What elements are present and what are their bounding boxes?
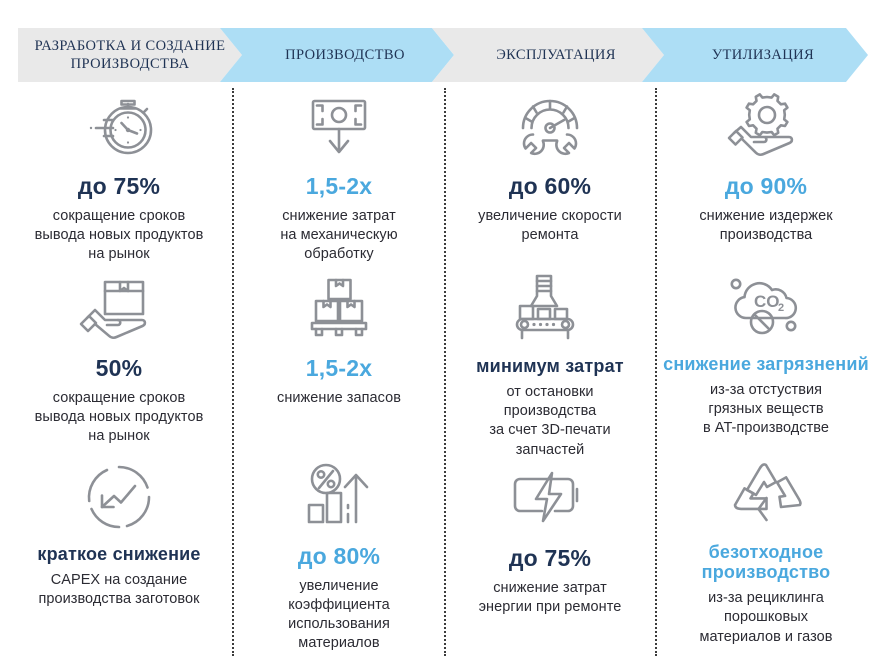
metric-value: до 60% xyxy=(449,174,651,200)
metric-description: увеличение коэффициента использования ма… xyxy=(238,577,440,654)
percent-growth-chart-icon xyxy=(238,458,440,536)
metric-card: CO 2 снижение загрязнений из-за отстуств… xyxy=(660,268,872,439)
metric-description: от остановки производства за счет 3D-печ… xyxy=(449,383,651,460)
metric-value: минимум затрат xyxy=(449,356,651,376)
metric-card: 1,5-2x снижение затрат на механическую о… xyxy=(238,88,440,264)
metric-description: CAPEX на создание производства заготовок xyxy=(10,571,228,609)
metric-value: до 90% xyxy=(660,174,872,200)
metric-description: из-за отстуствия грязных веществ в AT-пр… xyxy=(660,381,872,438)
metric-card: минимум затрат от остановки производства… xyxy=(449,270,651,460)
metric-value: краткое снижение xyxy=(10,544,228,564)
metric-card: 50% сокращение сроков вывода новых проду… xyxy=(10,270,228,446)
stage-chevron-3: ЭКСПЛУАТАЦИЯ xyxy=(432,28,664,82)
declining-chart-circle-icon xyxy=(10,458,228,536)
recycling-icon xyxy=(660,456,872,534)
stage-chevron-1: РАЗРАБОТКА И СОЗДАНИЕ ПРОИЗВОДСТВА xyxy=(18,28,242,82)
metric-value: до 80% xyxy=(238,544,440,570)
stage-label-2: ПРОИЗВОДСТВО xyxy=(285,46,405,64)
metric-value: 50% xyxy=(10,356,228,382)
metric-description: снижение запасов xyxy=(238,389,440,408)
metric-card: до 60% увеличение скорости ремонта xyxy=(449,88,651,245)
column-divider-3 xyxy=(655,88,657,656)
stage-label-3: ЭКСПЛУАТАЦИЯ xyxy=(496,46,616,64)
metric-description: снижение издержек производства xyxy=(660,207,872,245)
svg-text:2: 2 xyxy=(778,302,784,314)
metric-card: до 80% увеличение коэффициента использов… xyxy=(238,458,440,653)
banknote-down-arrow-icon xyxy=(238,88,440,166)
svg-text:CO: CO xyxy=(754,292,780,311)
battery-bolt-icon xyxy=(449,460,651,538)
metric-value: до 75% xyxy=(10,174,228,200)
stage-chevron-4: УТИЛИЗАЦИЯ xyxy=(642,28,868,82)
metric-value: до 75% xyxy=(449,546,651,572)
co2-cloud-blocked-icon: CO 2 xyxy=(660,268,872,346)
boxes-on-pallet-icon xyxy=(238,270,440,348)
metric-value: снижение загрязнений xyxy=(660,354,872,374)
column-divider-2 xyxy=(444,88,446,656)
stage-label-4: УТИЛИЗАЦИЯ xyxy=(712,46,814,64)
metric-description: сокращение сроков вывода новых продуктов… xyxy=(10,389,228,446)
stage-header-band: РАЗРАБОТКА И СОЗДАНИЕ ПРОИЗВОДСТВА ПРОИЗ… xyxy=(18,28,868,82)
metric-description: снижение затрат на механическую обработк… xyxy=(238,207,440,264)
speedometer-wrench-icon xyxy=(449,88,651,166)
metric-card: до 75% снижение затрат энергии при ремон… xyxy=(449,460,651,617)
metric-card: 1,5-2x снижение запасов xyxy=(238,270,440,408)
metric-card: до 90% снижение издержек производства xyxy=(660,88,872,245)
conveyor-belt-icon xyxy=(449,270,651,348)
infographic-root: РАЗРАБОТКА И СОЗДАНИЕ ПРОИЗВОДСТВА ПРОИЗ… xyxy=(0,0,880,664)
column-divider-1 xyxy=(232,88,234,656)
stopwatch-icon xyxy=(10,88,228,166)
metric-value: безотходное производство xyxy=(660,542,872,582)
metric-value: 1,5-2x xyxy=(238,174,440,200)
stage-chevron-2: ПРОИЗВОДСТВО xyxy=(220,28,454,82)
metric-card: до 75% сокращение сроков вывода новых пр… xyxy=(10,88,228,264)
hand-holding-gear-icon xyxy=(660,88,872,166)
metric-description: сокращение сроков вывода новых продуктов… xyxy=(10,207,228,264)
metric-description: снижение затрат энергии при ремонте xyxy=(449,579,651,617)
metric-card: безотходное производство из-за рециклинг… xyxy=(660,456,872,647)
metric-value: 1,5-2x xyxy=(238,356,440,382)
hand-holding-box-icon xyxy=(10,270,228,348)
metric-card: краткое снижение CAPEX на создание произ… xyxy=(10,458,228,609)
metric-description: увеличение скорости ремонта xyxy=(449,207,651,245)
stage-label-1: РАЗРАБОТКА И СОЗДАНИЕ ПРОИЗВОДСТВА xyxy=(35,37,226,73)
metric-description: из-за рециклинга порошковых материалов и… xyxy=(660,589,872,646)
